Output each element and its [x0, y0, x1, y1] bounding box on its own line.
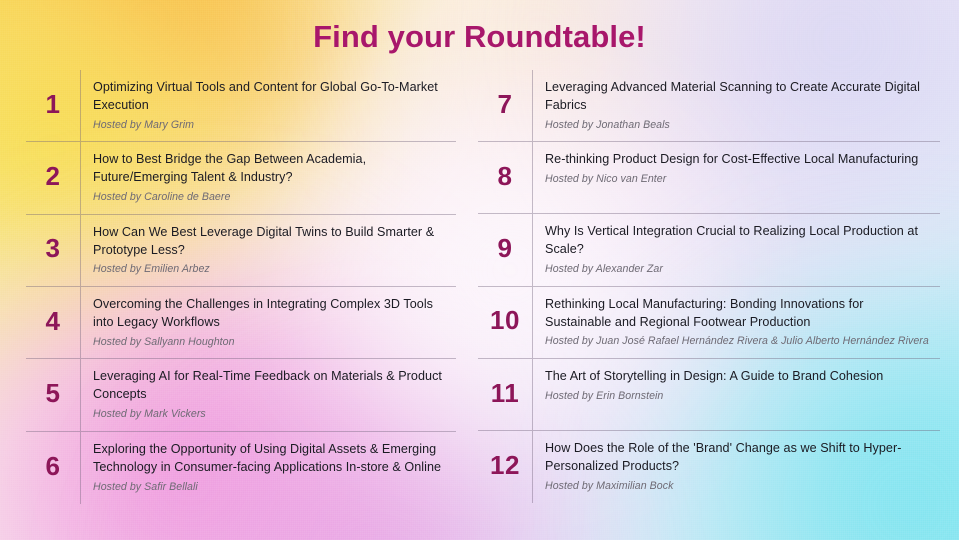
- roundtable-column-right: 7Leveraging Advanced Material Scanning t…: [478, 70, 940, 503]
- roundtable-item-number-cell: 7: [478, 70, 533, 141]
- roundtable-item-body: Leveraging AI for Real-Time Feedback on …: [81, 359, 456, 430]
- roundtable-item-host: Hosted by Safir Bellali: [93, 480, 448, 495]
- roundtable-item-host: Hosted by Caroline de Baere: [93, 190, 448, 205]
- roundtable-item-body: How Can We Best Leverage Digital Twins t…: [81, 215, 456, 286]
- roundtable-item-topic: How Does the Role of the 'Brand' Change …: [545, 440, 932, 476]
- roundtable-item-host: Hosted by Maximilian Bock: [545, 479, 932, 494]
- roundtable-item-host: Hosted by Juan José Rafael Hernández Riv…: [545, 334, 932, 349]
- roundtable-item-topic: Exploring the Opportunity of Using Digit…: [93, 441, 448, 477]
- roundtable-item-body: How Does the Role of the 'Brand' Change …: [533, 431, 940, 503]
- roundtable-item-number: 6: [46, 453, 61, 479]
- roundtable-item[interactable]: 4Overcoming the Challenges in Integratin…: [26, 287, 456, 359]
- roundtable-column-left: 1Optimizing Virtual Tools and Content fo…: [26, 70, 456, 504]
- roundtable-item-body: Optimizing Virtual Tools and Content for…: [81, 70, 456, 141]
- slide: Find your Roundtable! 1Optimizing Virtua…: [0, 0, 959, 540]
- roundtable-item[interactable]: 1Optimizing Virtual Tools and Content fo…: [26, 70, 456, 142]
- roundtable-item-number-cell: 1: [26, 70, 81, 141]
- roundtable-item[interactable]: 6Exploring the Opportunity of Using Digi…: [26, 432, 456, 504]
- roundtable-item-number-cell: 10: [478, 287, 533, 358]
- roundtable-item-host: Hosted by Alexander Zar: [545, 262, 932, 277]
- roundtable-item[interactable]: 12How Does the Role of the 'Brand' Chang…: [478, 431, 940, 503]
- roundtable-item[interactable]: 3How Can We Best Leverage Digital Twins …: [26, 215, 456, 287]
- roundtable-item-topic: How to Best Bridge the Gap Between Acade…: [93, 151, 448, 187]
- roundtable-item-number-cell: 4: [26, 287, 81, 358]
- roundtable-item-body: Exploring the Opportunity of Using Digit…: [81, 432, 456, 504]
- roundtable-item-topic: Why Is Vertical Integration Crucial to R…: [545, 223, 932, 259]
- roundtable-item[interactable]: 5Leveraging AI for Real-Time Feedback on…: [26, 359, 456, 431]
- roundtable-item-number-cell: 8: [478, 142, 533, 213]
- roundtable-item-number: 5: [46, 380, 61, 406]
- roundtable-item-host: Hosted by Nico van Enter: [545, 172, 932, 187]
- roundtable-item-number-cell: 9: [478, 214, 533, 285]
- roundtable-item[interactable]: 9Why Is Vertical Integration Crucial to …: [478, 214, 940, 286]
- roundtable-item-body: Rethinking Local Manufacturing: Bonding …: [533, 287, 940, 358]
- roundtable-item[interactable]: 8Re-thinking Product Design for Cost-Eff…: [478, 142, 940, 214]
- roundtable-item[interactable]: 11The Art of Storytelling in Design: A G…: [478, 359, 940, 431]
- roundtable-item-host: Hosted by Erin Bornstein: [545, 389, 932, 404]
- roundtable-item-topic: Rethinking Local Manufacturing: Bonding …: [545, 296, 932, 332]
- roundtable-item[interactable]: 10Rethinking Local Manufacturing: Bondin…: [478, 287, 940, 359]
- roundtable-item-body: Leveraging Advanced Material Scanning to…: [533, 70, 940, 141]
- roundtable-item-number-cell: 3: [26, 215, 81, 286]
- roundtable-item-topic: Re-thinking Product Design for Cost-Effe…: [545, 151, 932, 169]
- roundtable-item-number-cell: 6: [26, 432, 81, 504]
- roundtable-item-number-cell: 5: [26, 359, 81, 430]
- page-title: Find your Roundtable!: [0, 19, 959, 55]
- roundtable-item-host: Hosted by Mary Grim: [93, 118, 448, 133]
- roundtable-item-topic: How Can We Best Leverage Digital Twins t…: [93, 224, 448, 260]
- roundtable-item-number: 4: [46, 308, 61, 334]
- roundtable-item-topic: Leveraging Advanced Material Scanning to…: [545, 79, 932, 115]
- roundtable-item-number-cell: 12: [478, 431, 533, 503]
- roundtable-item-number-cell: 11: [478, 359, 533, 430]
- roundtable-item-number: 1: [46, 91, 61, 117]
- roundtable-item-number: 2: [46, 163, 61, 189]
- roundtable-item-host: Hosted by Sallyann Houghton: [93, 335, 448, 350]
- roundtable-item-body: Why Is Vertical Integration Crucial to R…: [533, 214, 940, 285]
- roundtable-item-body: Re-thinking Product Design for Cost-Effe…: [533, 142, 940, 213]
- roundtable-item-number-cell: 2: [26, 142, 81, 213]
- roundtable-item-number: 7: [498, 91, 513, 117]
- roundtable-item-topic: Overcoming the Challenges in Integrating…: [93, 296, 448, 332]
- roundtable-item-number: 12: [490, 452, 520, 478]
- roundtable-item-number: 8: [498, 163, 513, 189]
- roundtable-item-topic: Leveraging AI for Real-Time Feedback on …: [93, 368, 448, 404]
- roundtable-item-topic: The Art of Storytelling in Design: A Gui…: [545, 368, 932, 386]
- roundtable-item[interactable]: 7Leveraging Advanced Material Scanning t…: [478, 70, 940, 142]
- roundtable-item-host: Hosted by Emilien Arbez: [93, 262, 448, 277]
- roundtable-item-host: Hosted by Mark Vickers: [93, 407, 448, 422]
- roundtable-item-body: The Art of Storytelling in Design: A Gui…: [533, 359, 940, 430]
- roundtable-item-topic: Optimizing Virtual Tools and Content for…: [93, 79, 448, 115]
- roundtable-item-body: Overcoming the Challenges in Integrating…: [81, 287, 456, 358]
- roundtable-item-number: 9: [498, 235, 513, 261]
- roundtable-item-number: 3: [46, 235, 61, 261]
- roundtable-item-host: Hosted by Jonathan Beals: [545, 118, 932, 133]
- roundtable-item-number: 10: [490, 307, 520, 333]
- roundtable-item-number: 11: [491, 380, 520, 406]
- roundtable-item[interactable]: 2How to Best Bridge the Gap Between Acad…: [26, 142, 456, 214]
- roundtable-item-body: How to Best Bridge the Gap Between Acade…: [81, 142, 456, 213]
